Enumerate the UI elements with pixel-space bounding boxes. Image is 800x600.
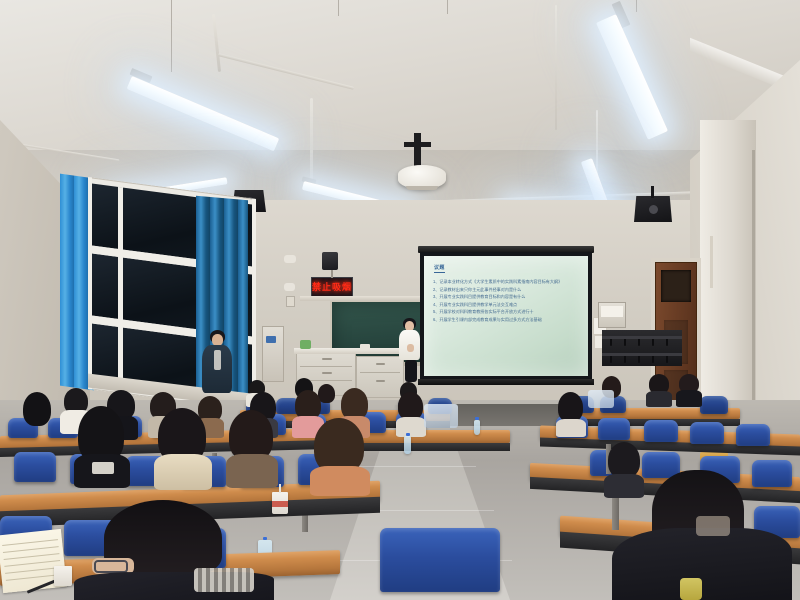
projector-mount-arm	[414, 133, 421, 167]
slide-title: 议题	[434, 264, 445, 273]
coat-rack-rail-bottom	[602, 353, 682, 356]
juice-bottle	[680, 578, 702, 600]
foreground-left-collar	[194, 568, 254, 592]
speaker-cone-icon	[649, 205, 658, 214]
lamp-wire-2	[338, 0, 339, 16]
projection-screen: 议题 1、记录本业转化方式《大学生素质中的实践科素指南内容目标有大纲》 2、记录…	[424, 256, 588, 376]
wall-trim-vertical	[710, 236, 713, 288]
wall-camera-2	[284, 283, 295, 291]
electrical-panel[interactable]	[598, 302, 626, 328]
water-bottle-3	[404, 436, 411, 454]
slide-item-4: 4、开展专业实践科目提供教学单元法交互难点	[433, 301, 580, 309]
student-front-1	[74, 406, 130, 482]
classroom-photo: 禁止吸烟 议题 1、记录本业转化方式《大学生素质中的实践科素指南内容目标有大纲》…	[0, 0, 800, 600]
student-right-1	[556, 392, 586, 434]
student-right-3	[636, 404, 682, 460]
paper-on-podium	[360, 344, 370, 350]
chair-right-2[interactable]	[598, 418, 630, 440]
podium-top	[294, 348, 408, 354]
ceiling-conduit-e	[555, 5, 557, 130]
window-frame-left	[88, 177, 92, 390]
presenter	[396, 318, 422, 380]
chair-right-5[interactable]	[736, 424, 770, 446]
door-window-pane	[661, 270, 691, 302]
slide-bullet-list: 1、记录本业转化方式《大学生素质中的实践科素指南内容目标有大纲》 2、记录教材出…	[433, 278, 580, 324]
observer-shirt-collar	[214, 350, 221, 370]
slide-item-6: 6、开展学生引课内部完成教育成果与实用过多方式方法基础	[433, 316, 580, 324]
coat-rack[interactable]	[602, 330, 682, 366]
chair-far-8[interactable]	[700, 396, 728, 414]
standing-observer	[200, 330, 234, 400]
plastic-bag-on-desk	[424, 404, 458, 428]
paper-cup	[272, 492, 288, 514]
student-front-4	[310, 418, 370, 492]
screen-bottom-bar	[418, 379, 594, 385]
projection-screen-frame: 议题 1、记录本业转化方式《大学生素质中的实践科素指南内容目标有大纲》 2、记录…	[420, 252, 592, 380]
blue-label-on-cabinet	[266, 336, 276, 343]
chair-front-1[interactable]	[14, 452, 56, 482]
slide-item-2: 2、记录教材出来只你主元此事件经事对内是什么	[433, 286, 580, 294]
window-mullion-vertical	[118, 187, 123, 388]
presenter-hands	[407, 344, 414, 352]
water-bottle-4	[474, 420, 480, 435]
led-sign: 禁止吸烟	[311, 277, 353, 297]
electrical-panel-face	[601, 306, 623, 317]
plastic-bag-2	[588, 390, 614, 408]
wall-speaker-right	[634, 196, 672, 222]
student-foreground-right	[612, 470, 792, 600]
green-item-on-podium	[300, 340, 311, 349]
student-front-3	[226, 410, 278, 484]
lamp-wire-3	[447, 0, 448, 14]
student-mid-9	[396, 392, 426, 436]
wall-switch-box[interactable]	[286, 296, 295, 307]
student-far-6	[646, 374, 672, 404]
chair-foreground-4[interactable]	[380, 528, 500, 592]
led-sign-text: 禁止吸烟	[312, 283, 352, 292]
chair-right-4[interactable]	[690, 422, 724, 444]
projector-mount-bracket	[404, 142, 431, 147]
student-front-2	[154, 408, 212, 484]
student-far-7	[676, 374, 702, 404]
foreground-right-coat	[612, 528, 792, 600]
wireless-receiver	[322, 252, 338, 270]
slide-item-3: 3、开展专业实践科目提供教育目标和内容是有什么	[433, 293, 580, 301]
projector-base	[406, 186, 438, 190]
presenter-trousers	[405, 360, 417, 382]
glasses-icon	[94, 560, 128, 573]
slide-item-5: 5、开展学校对科科教育教授各实际平台开放方式进行十	[433, 308, 580, 316]
foreground-right-hand	[696, 516, 730, 536]
lamp-wire-1	[171, 0, 172, 72]
student-mid-1	[20, 392, 54, 436]
speaker-bracket-right	[651, 186, 654, 198]
slide-item-1: 1、记录本业转化方式《大学生素质中的实践科素指南内容目标有大纲》	[433, 278, 580, 286]
tissue-pack	[54, 566, 72, 586]
cup-straw	[279, 484, 281, 493]
lamp-wire-4	[636, 0, 637, 12]
side-cabinet	[262, 326, 284, 382]
wall-camera-1	[284, 255, 296, 263]
coat-rack-rail-top	[602, 336, 682, 339]
jacket-text-graphic	[92, 462, 114, 474]
student-foreground-left	[74, 500, 274, 600]
